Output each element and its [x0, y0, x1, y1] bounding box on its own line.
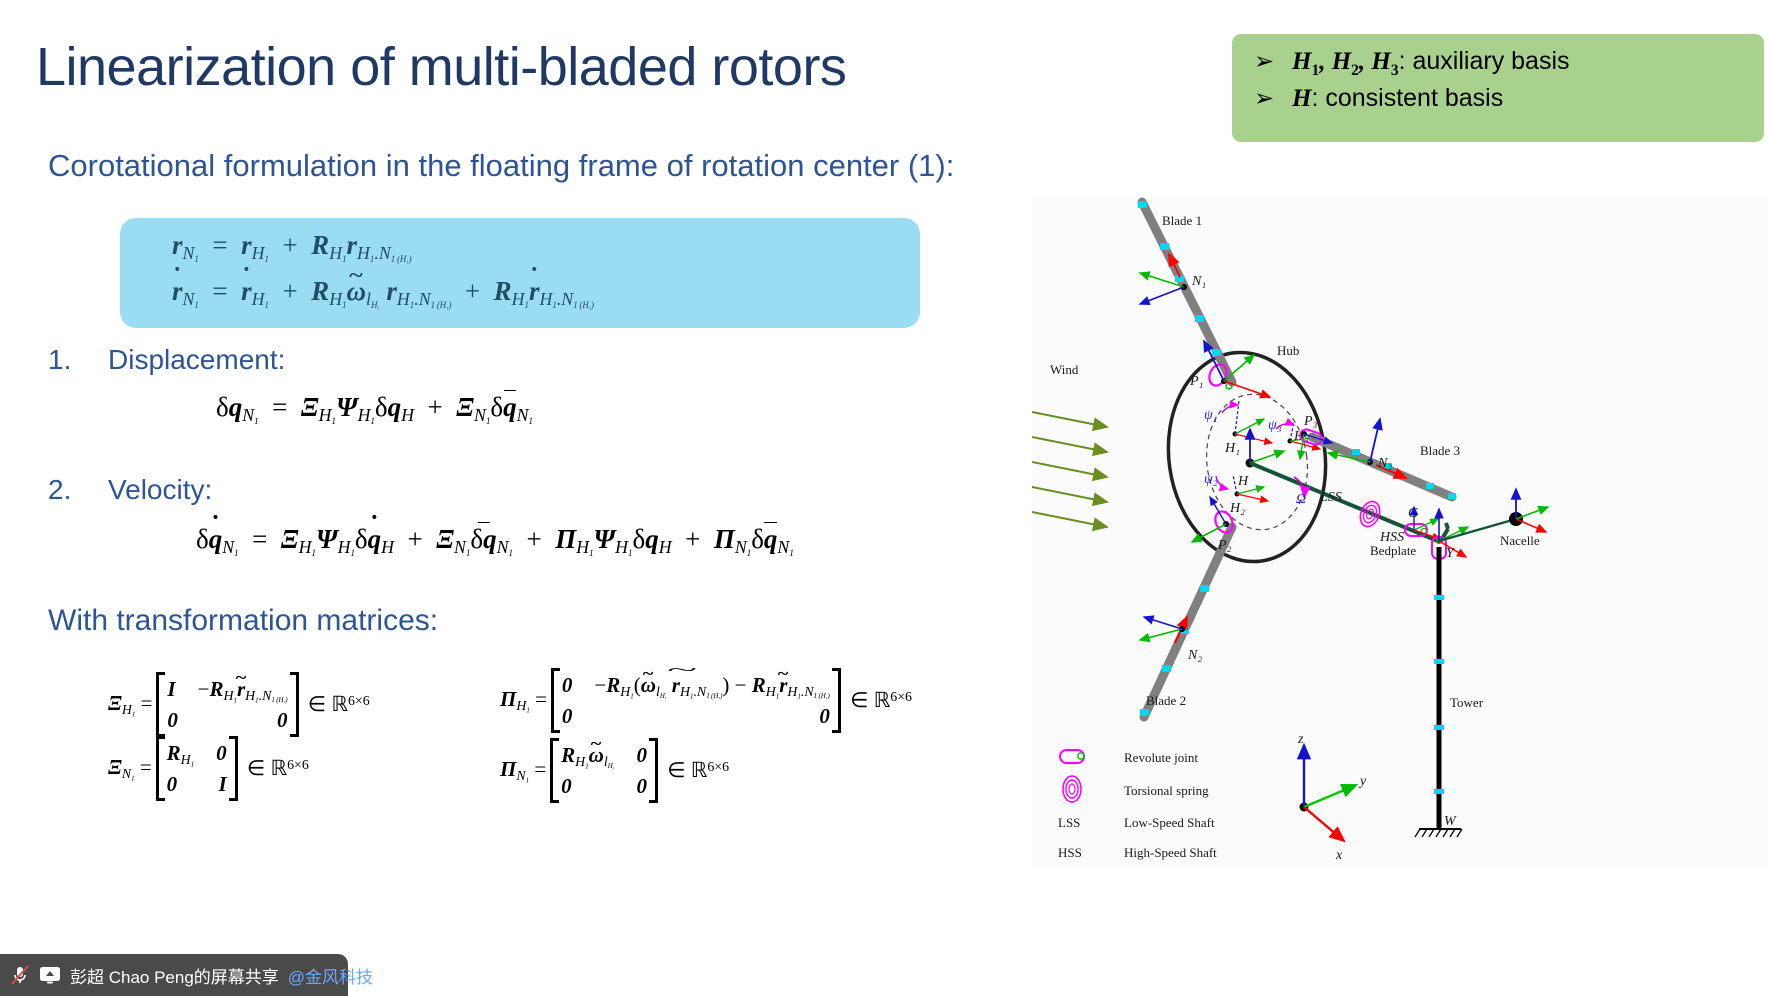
- bullet-arrow-icon: ➢: [1254, 50, 1292, 74]
- label-lss: LSS: [1319, 490, 1342, 505]
- matrix-xi-n1: ΞN1 = RH10 0I ∈ ℝ6×6: [108, 736, 309, 801]
- bullet-arrow-icon: ➢: [1254, 87, 1292, 111]
- screenshare-title: 彭超 Chao Peng的屏幕共享: [70, 963, 279, 988]
- label-bedplate: Bedplate: [1370, 543, 1416, 558]
- label-p1: P₁: [1189, 374, 1203, 389]
- list-item-velocity: 2.Velocity:: [48, 474, 212, 506]
- list-item-label: Velocity:: [108, 474, 212, 505]
- callout-item-1-text: H1, H2, H3: auxiliary basis: [1292, 47, 1570, 80]
- list-item-number: 2.: [48, 474, 108, 506]
- auxiliary-basis-callout: ➢ H1, H2, H3: auxiliary basis ➢ H: consi…: [1232, 34, 1764, 142]
- list-item-number: 1.: [48, 344, 108, 376]
- callout-item-2: ➢ H: consistent basis: [1254, 84, 1750, 113]
- label-w: W: [1444, 814, 1457, 829]
- matrix-pi-h1: ΠH1 = 0−RH1(ωlH1 rH1.N1 (H1)) − RH1rH1.N…: [500, 668, 912, 733]
- label-axis-y: y: [1358, 774, 1367, 789]
- legend-label-revolute-joint: Revolute joint: [1124, 750, 1198, 765]
- wind-turbine-diagram: Wind Hub N₁: [1032, 197, 1768, 865]
- equation-position: rN1 = rH1 + RH1rH1.N1 (H1): [172, 230, 412, 265]
- legend-label-torsional-spring: Torsional spring: [1124, 783, 1209, 798]
- slide-canvas: Linearization of multi-bladed rotors ➢ H…: [0, 0, 1768, 996]
- label-wind: Wind: [1050, 362, 1079, 377]
- section-subheading: Corotational formulation in the floating…: [48, 148, 954, 184]
- list-item-label: Displacement:: [108, 344, 285, 375]
- label-axis-z: z: [1297, 732, 1304, 747]
- label-h1: H₁: [1224, 441, 1240, 456]
- callout-item-1: ➢ H1, H2, H3: auxiliary basis: [1254, 47, 1750, 80]
- velocity-equation: δqN1 = ΞH1ΨH1δqH + ΞN1δqN1 + ΠH1ΨH1δqH +…: [196, 524, 794, 558]
- callout-item-2-text: H: consistent basis: [1292, 84, 1503, 113]
- label-g: G: [1408, 506, 1418, 521]
- label-n1: N₁: [1191, 274, 1206, 289]
- label-blade1: Blade 1: [1162, 213, 1202, 228]
- callout-item-2-desc: : consistent basis: [1311, 84, 1503, 112]
- label-blade3: Blade 3: [1420, 443, 1460, 458]
- equation-velocity: rN1 = rH1 + RH1ωlH1 rH1.N1 (H1) + RH1rH1…: [172, 276, 594, 311]
- matrices-heading: With transformation matrices:: [48, 604, 438, 638]
- label-omega: Ω: [1296, 492, 1306, 507]
- screenshare-taskbar[interactable]: 彭超 Chao Peng的屏幕共享 @金风科技: [0, 954, 348, 996]
- label-n3: N₃: [1377, 456, 1392, 471]
- legend-abbrev-hss: HSS: [1058, 845, 1082, 860]
- label-h: H: [1237, 474, 1249, 489]
- label-axis-x: x: [1335, 848, 1343, 863]
- matrix-xi-h1: ΞH1 = I−RH1rH1.N1 (H1) 00 ∈ ℝ6×6: [108, 672, 370, 737]
- label-psi1: ψ₁: [1204, 408, 1218, 423]
- page-title: Linearization of multi-bladed rotors: [36, 36, 846, 98]
- label-psi2: ψ₂: [1204, 472, 1218, 487]
- label-n2: N₂: [1187, 648, 1202, 663]
- label-hub: Hub: [1277, 343, 1299, 358]
- label-h2: H₂: [1229, 501, 1245, 516]
- callout-item-1-desc: : auxiliary basis: [1399, 47, 1570, 75]
- corotational-equation-box: rN1 = rH1 + RH1rH1.N1 (H1) rN1 = rH1 + R…: [120, 218, 920, 328]
- label-psi3: ψ₃: [1268, 418, 1282, 433]
- mic-muted-icon[interactable]: [10, 964, 30, 986]
- label-p2: P₂: [1217, 538, 1232, 553]
- label-p3: P₃: [1303, 414, 1318, 429]
- displacement-equation: δqN1 = ΞH1ΨH1δqH + ΞN1δqN1: [216, 392, 533, 426]
- legend-abbrev-lss: LSS: [1058, 815, 1080, 830]
- matrix-pi-n1: ΠN1 = RH1ωlH10 00 ∈ ℝ6×6: [500, 738, 729, 803]
- screen-share-icon[interactable]: [39, 965, 61, 985]
- screenshare-handle: @金风科技: [288, 963, 373, 988]
- legend-label-hss: High-Speed Shaft: [1124, 845, 1217, 860]
- legend-label-lss: Low-Speed Shaft: [1124, 815, 1215, 830]
- label-tower: Tower: [1450, 695, 1484, 710]
- label-blade2: Blade 2: [1146, 693, 1186, 708]
- label-nacelle: Nacelle: [1500, 533, 1540, 548]
- list-item-displacement: 1.Displacement:: [48, 344, 285, 376]
